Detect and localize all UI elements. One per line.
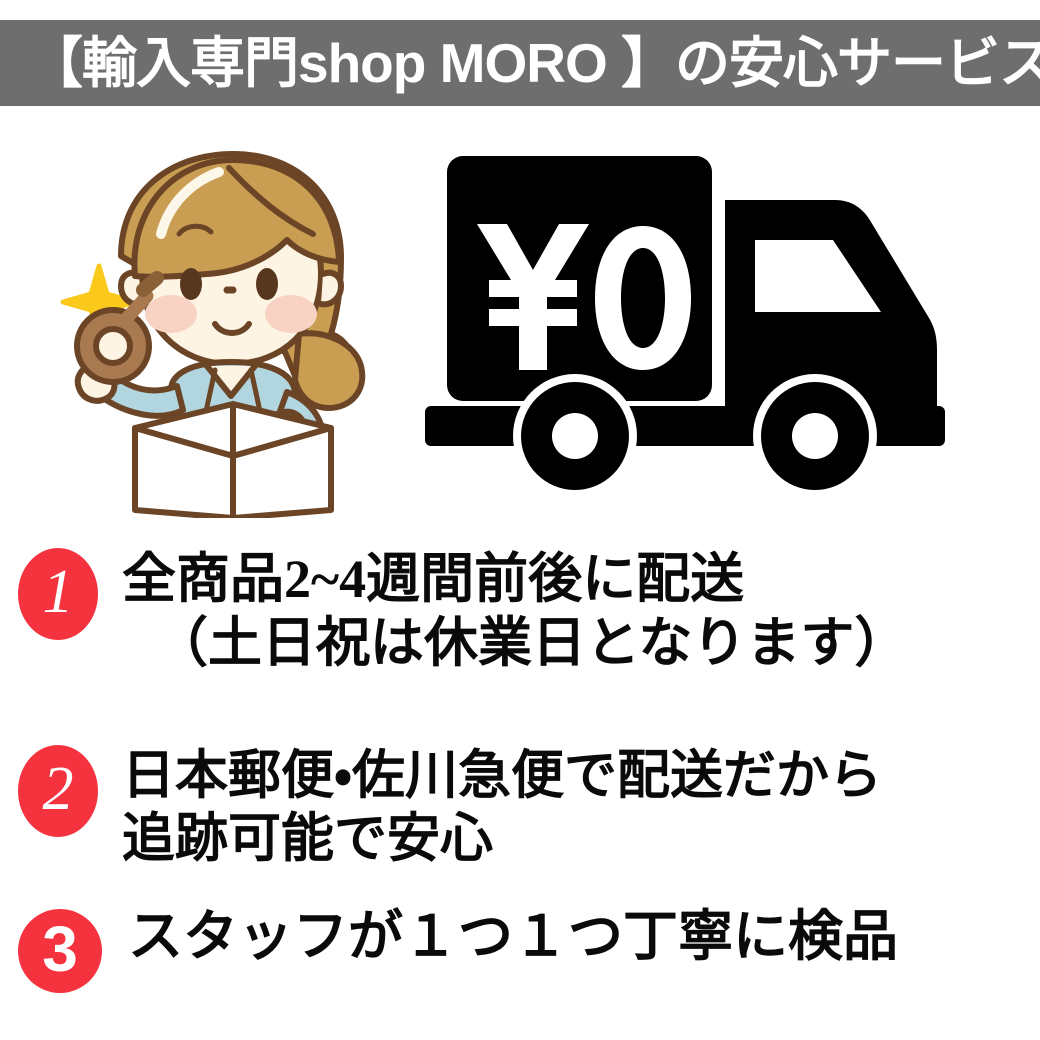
feature-item-3: 3 スタッフが１つ１つ丁寧に検品 — [0, 905, 1040, 993]
feature-badge-1-number: 1 — [43, 561, 74, 623]
feature-item-1: 1 全商品2~4週間前後に配送 （土日祝は休業日となります） — [0, 548, 1040, 675]
feature-badge-1: 1 — [18, 548, 98, 640]
feature-3-line-1: スタッフが１つ１つ丁寧に検品 — [128, 905, 1040, 970]
feature-text-2: 日本郵便・佐川急便で配送だから 追跡可能で安心 — [98, 745, 1040, 870]
feature-badge-2: 2 — [18, 745, 98, 837]
feature-text-3: スタッフが１つ１つ丁寧に検品 — [102, 905, 1040, 970]
feature-item-2: 2 日本郵便・佐川急便で配送だから 追跡可能で安心 — [0, 745, 1040, 870]
staff-inspecting-package-illustration — [55, 138, 415, 518]
feature-1-line-2: （土日祝は休業日となります） — [122, 612, 1040, 676]
feature-2-line-2: 追跡可能で安心 — [122, 808, 1040, 871]
feature-1-line-1: 全商品2~4週間前後に配送 — [122, 548, 1040, 612]
feature-2-line-1: 日本郵便・佐川急便で配送だから — [122, 745, 1040, 808]
free-shipping-truck-illustration: ¥0 — [425, 148, 1015, 508]
feature-text-1: 全商品2~4週間前後に配送 （土日祝は休業日となります） — [98, 548, 1040, 675]
feature-badge-2-number: 2 — [43, 758, 74, 820]
header-banner: 【輸入専門shop MORO 】の安心サービス — [0, 20, 1040, 106]
service-info-graphic: 【輸入専門shop MORO 】の安心サービス — [0, 0, 1040, 1040]
feature-badge-3: 3 — [18, 909, 102, 993]
page-title: 【輸入専門shop MORO 】の安心サービス — [28, 36, 1040, 91]
feature-badge-3-number: 3 — [42, 917, 78, 981]
illustration-row: ¥0 — [0, 128, 1040, 528]
